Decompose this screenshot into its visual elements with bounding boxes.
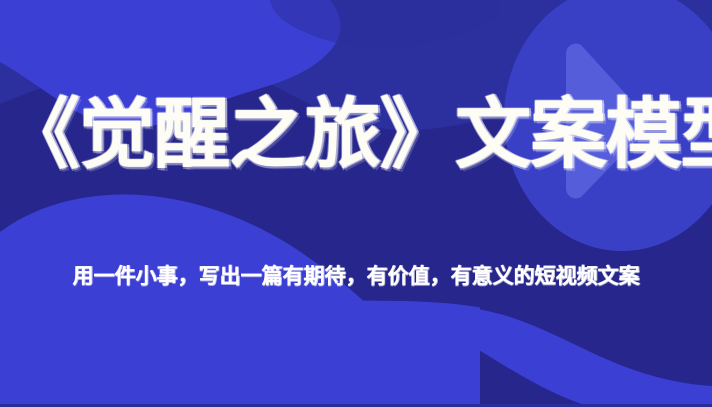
banner-subtitle: 用一件小事，写出一篇有期待，有价值，有意义的短视频文案 <box>0 262 712 292</box>
banner-title: 《觉醒之旅》文案模型 <box>4 92 709 178</box>
promo-banner: 《觉醒之旅》文案模型 用一件小事，写出一篇有期待，有价值，有意义的短视频文案 <box>0 0 712 407</box>
banner-content: 《觉醒之旅》文案模型 用一件小事，写出一篇有期待，有价值，有意义的短视频文案 <box>0 0 712 407</box>
